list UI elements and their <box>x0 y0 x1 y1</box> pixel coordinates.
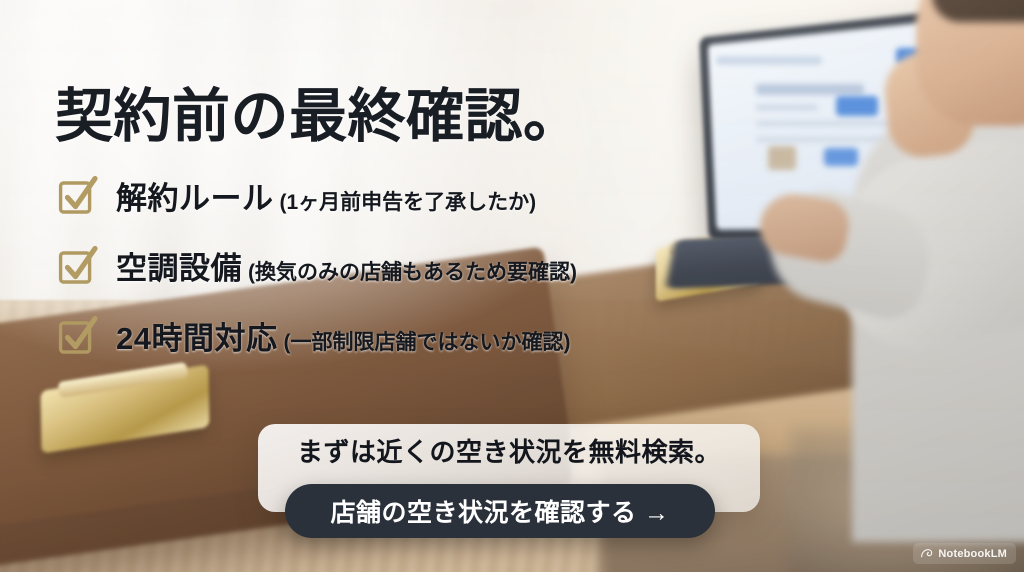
checklist-item-note: (1ヶ月前申告を了承したか) <box>280 191 537 214</box>
checklist: 解約ルール(1ヶ月前申告を了承したか) 空調設備(換気のみの店舗もあるため要確認… <box>58 160 577 370</box>
cta-heading: まずは近くの空き状況を無料検索。 <box>258 432 760 469</box>
slide-canvas: 契約前の最終確認。 解約ルール(1ヶ月前申告を了承したか) <box>0 0 1024 572</box>
page-title: 契約前の最終確認。 <box>55 85 582 149</box>
checklist-item-text: 空調設備(換気のみの店舗もあるため要確認) <box>116 243 577 288</box>
checklist-item-text: 解約ルール(1ヶ月前申告を了承したか) <box>116 173 536 218</box>
checked-checkbox-icon <box>58 316 96 354</box>
checked-checkbox-icon <box>58 246 96 284</box>
checklist-item-note: (一部制限店舗ではないか確認) <box>283 331 570 354</box>
checklist-item-text: 24時間対応(一部制限店舗ではないか確認) <box>116 313 570 358</box>
notebooklm-logo-icon <box>920 547 933 560</box>
checklist-item-label: 空調設備 <box>116 251 242 286</box>
checklist-item-note: (換気のみの店舗もあるため要確認) <box>248 261 577 284</box>
checklist-item: 空調設備(換気のみの店舗もあるため要確認) <box>58 230 577 300</box>
notebooklm-watermark: NotebookLM <box>913 543 1016 564</box>
checked-checkbox-icon <box>58 176 96 214</box>
notebooklm-watermark-label: NotebookLM <box>938 548 1007 560</box>
checklist-item: 解約ルール(1ヶ月前申告を了承したか) <box>58 160 577 230</box>
checklist-item-label: 24時間対応 <box>116 321 277 356</box>
slide-content: 契約前の最終確認。 解約ルール(1ヶ月前申告を了承したか) <box>0 0 1024 572</box>
checklist-item: 24時間対応(一部制限店舗ではないか確認) <box>58 300 577 370</box>
checklist-item-label: 解約ルール <box>116 181 274 216</box>
check-availability-button[interactable]: 店舗の空き状況を確認する → <box>285 484 715 538</box>
